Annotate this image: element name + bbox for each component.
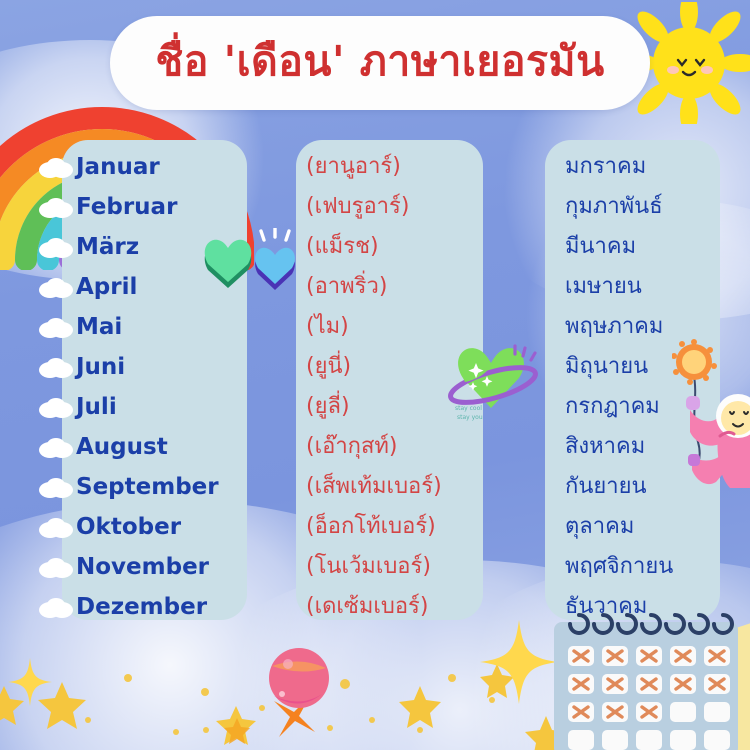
cloud-bullet-icon	[38, 316, 76, 338]
list-item: (อ็อกโท้เบอร์)	[296, 507, 496, 547]
transliteration-label: (อาพริ่ว)	[306, 276, 387, 298]
thai-month-label: กรกฎาคม	[565, 396, 660, 418]
cloud-bullet-icon	[38, 596, 76, 618]
list-item: (เดเซ้มเบอร์)	[296, 587, 496, 627]
list-item: (ยูลี่)	[296, 387, 496, 427]
german-month-label: Januar	[76, 156, 160, 179]
list-item: (ไม)	[296, 307, 496, 347]
list-item: สิงหาคม	[545, 427, 745, 467]
list-item: November	[36, 547, 296, 587]
list-item: August	[36, 427, 296, 467]
cloud-bullet-icon	[38, 236, 76, 258]
german-month-label: Mai	[76, 316, 122, 339]
list-item: มิถุนายน	[545, 347, 745, 387]
transliteration-label: (ไม)	[306, 316, 349, 338]
transliteration-label: (เฟบรูอาร์)	[306, 196, 409, 218]
cloud-bullet-icon	[38, 476, 76, 498]
list-item: Januar	[36, 147, 296, 187]
transliteration-label: (ยานูอาร์)	[306, 156, 401, 178]
transliteration-label: (เดเซ้มเบอร์)	[306, 596, 428, 618]
german-month-label: Dezember	[76, 596, 207, 619]
thai-month-label: กุมภาพันธ์	[565, 196, 663, 218]
list-item: มีนาคม	[545, 227, 745, 267]
list-item: Juli	[36, 387, 296, 427]
list-item: ตุลาคม	[545, 507, 745, 547]
list-item: พฤษภาคม	[545, 307, 745, 347]
list-item: März	[36, 227, 296, 267]
transliteration-label: (ยูนี่)	[306, 356, 351, 378]
cloud-bullet-icon	[38, 276, 76, 298]
sparkle-icon	[480, 620, 558, 704]
infographic-canvas: ชื่อ 'เดือน' ภาษาเยอรมัน	[0, 0, 750, 750]
calendar-icon	[548, 600, 750, 750]
list-item: (แม็รช)	[296, 227, 496, 267]
list-item: September	[36, 467, 296, 507]
list-item: กันยายน	[545, 467, 745, 507]
title-card: ชื่อ 'เดือน' ภาษาเยอรมัน	[110, 16, 650, 110]
transliteration-label: (อ็อกโท้เบอร์)	[306, 516, 436, 538]
german-month-list: Januar Februar März April Mai Juni Juli	[36, 140, 296, 627]
list-item: มกราคม	[545, 147, 745, 187]
list-item: Dezember	[36, 587, 296, 627]
list-item: (เอ๊ากุสท์)	[296, 427, 496, 467]
list-item: (ยานูอาร์)	[296, 147, 496, 187]
german-month-label: März	[76, 236, 139, 259]
transliteration-label: (เส็พเท้มเบอร์)	[306, 476, 442, 498]
list-item: กรกฎาคม	[545, 387, 745, 427]
sparkle-icon	[8, 658, 52, 706]
list-item: (โนเว้มเบอร์)	[296, 547, 496, 587]
list-item: (อาพริ่ว)	[296, 267, 496, 307]
list-item: (ยูนี่)	[296, 347, 496, 387]
thai-month-label: ตุลาคม	[565, 516, 634, 538]
thai-month-label: เมษายน	[565, 276, 642, 298]
thai-month-list: มกราคม กุมภาพันธ์ มีนาคม เมษายน พฤษภาคม …	[545, 140, 745, 627]
cloud-bullet-icon	[38, 156, 76, 178]
transliteration-label: (เอ๊ากุสท์)	[306, 436, 398, 458]
list-item: April	[36, 267, 296, 307]
page-title: ชื่อ 'เดือน' ภาษาเยอรมัน	[155, 41, 604, 86]
transliteration-label: (แม็รช)	[306, 236, 379, 258]
list-item: พฤศจิกายน	[545, 547, 745, 587]
list-item: กุมภาพันธ์	[545, 187, 745, 227]
thai-month-label: สิงหาคม	[565, 436, 645, 458]
transliteration-label: (ยูลี่)	[306, 396, 350, 418]
cloud-bullet-icon	[38, 356, 76, 378]
list-item: เมษายน	[545, 267, 745, 307]
german-month-label: November	[76, 556, 209, 579]
list-item: Mai	[36, 307, 296, 347]
cloud-bullet-icon	[38, 436, 76, 458]
thai-month-label: พฤษภาคม	[565, 316, 663, 338]
thai-month-label: มีนาคม	[565, 236, 636, 258]
german-month-label: Februar	[76, 196, 177, 219]
list-item: Oktober	[36, 507, 296, 547]
thai-month-label: มิถุนายน	[565, 356, 648, 378]
cloud-bullet-icon	[38, 556, 76, 578]
cloud-bullet-icon	[38, 396, 76, 418]
german-month-label: Juni	[76, 356, 125, 379]
thai-month-label: กันยายน	[565, 476, 647, 498]
german-month-label: Juli	[76, 396, 117, 419]
german-month-label: August	[76, 436, 168, 459]
list-item: Februar	[36, 187, 296, 227]
list-item: (เฟบรูอาร์)	[296, 187, 496, 227]
transliteration-label: (โนเว้มเบอร์)	[306, 556, 431, 578]
cloud-bullet-icon	[38, 196, 76, 218]
transliteration-list: (ยานูอาร์) (เฟบรูอาร์) (แม็รช) (อาพริ่ว)…	[296, 140, 496, 627]
thai-month-label: พฤศจิกายน	[565, 556, 673, 578]
german-month-label: Oktober	[76, 516, 181, 539]
german-month-label: April	[76, 276, 137, 299]
list-item: (เส็พเท้มเบอร์)	[296, 467, 496, 507]
cloud-bullet-icon	[38, 516, 76, 538]
thai-month-label: มกราคม	[565, 156, 646, 178]
list-item: Juni	[36, 347, 296, 387]
german-month-label: September	[76, 476, 219, 499]
